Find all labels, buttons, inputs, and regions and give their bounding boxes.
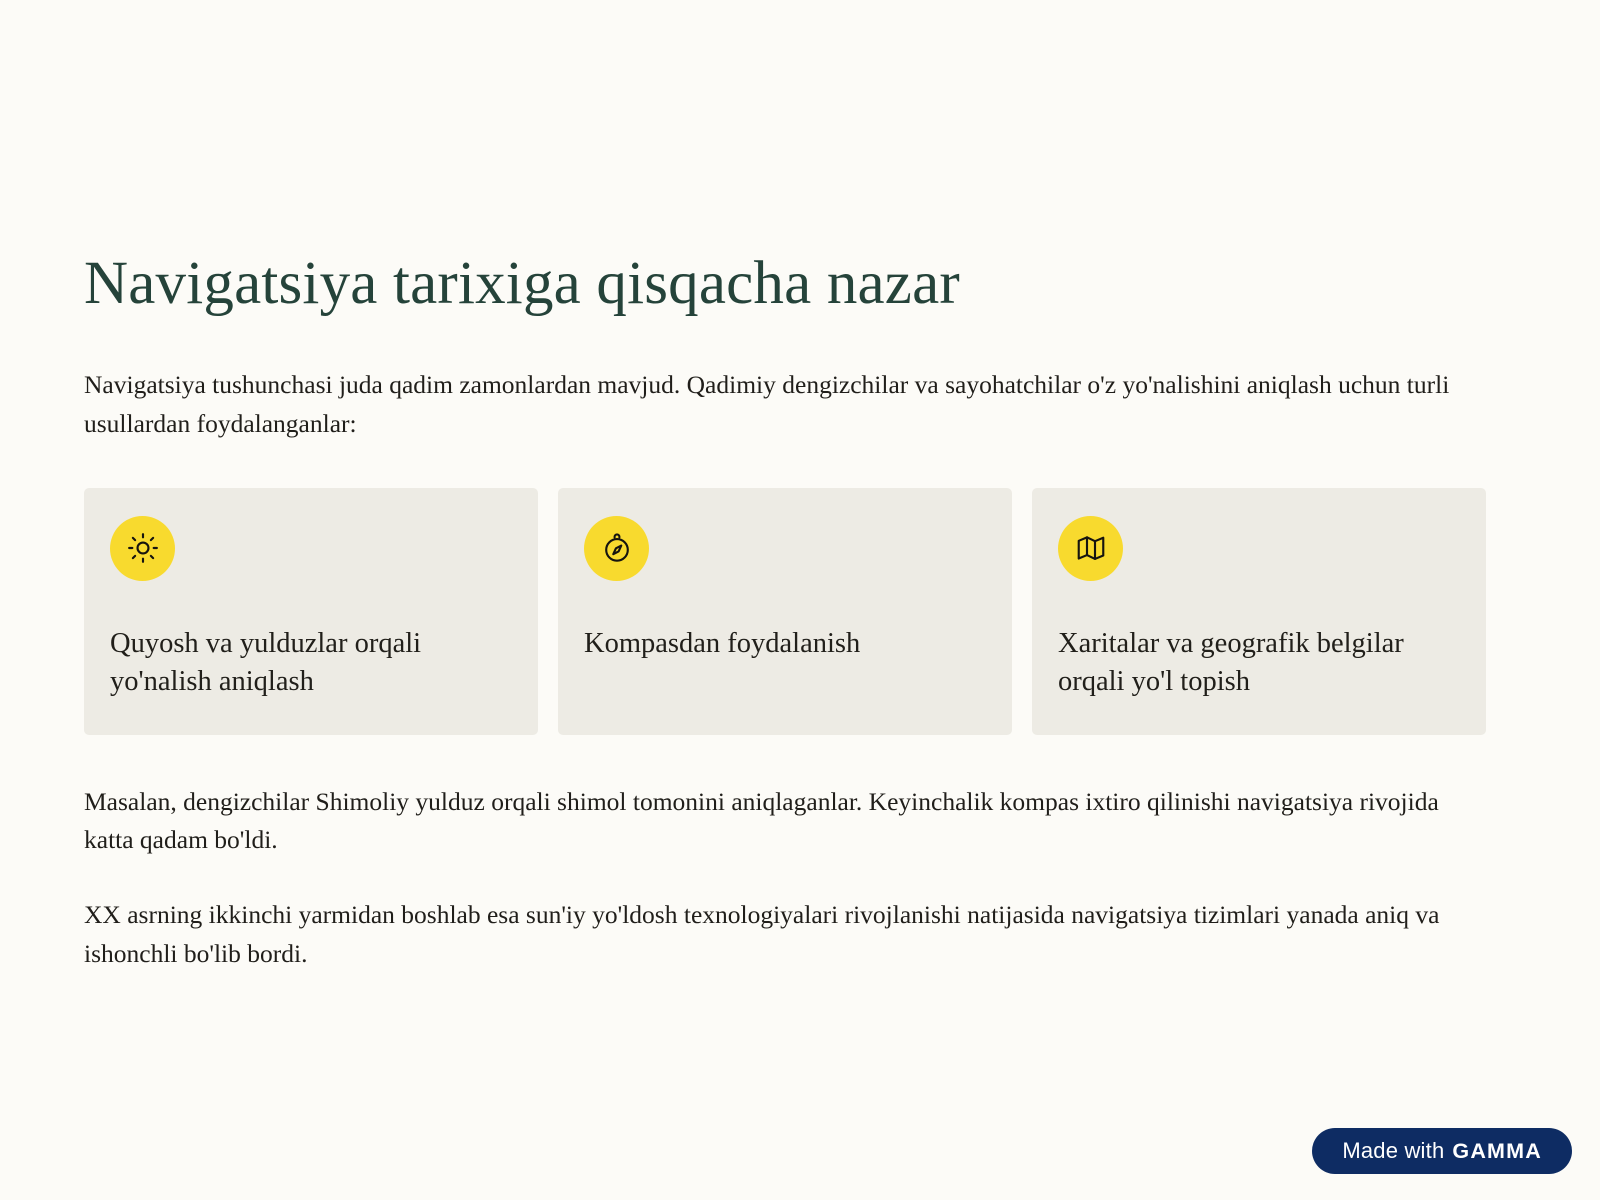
sun-icon	[127, 532, 159, 564]
slide-canvas: Navigatsiya tarixiga qisqacha nazar Navi…	[0, 0, 1600, 1200]
sun-icon-badge	[110, 516, 175, 581]
page-title: Navigatsiya tarixiga qisqacha nazar	[84, 250, 1486, 318]
feature-card-list: Quyosh va yulduzlar orqali yo'nalish ani…	[84, 488, 1486, 735]
made-with-label: Made with	[1342, 1138, 1444, 1164]
compass-icon-badge	[584, 516, 649, 581]
feature-card-title: Kompasdan foydalanish	[584, 625, 986, 663]
feature-card-title: Xaritalar va geografik belgilar orqali y…	[1058, 625, 1460, 701]
slide-content: Navigatsiya tarixiga qisqacha nazar Navi…	[84, 250, 1486, 974]
feature-card-map[interactable]: Xaritalar va geografik belgilar orqali y…	[1032, 488, 1486, 735]
compass-icon	[601, 532, 633, 564]
feature-card-title: Quyosh va yulduzlar orqali yo'nalish ani…	[110, 625, 512, 701]
made-with-gamma-badge[interactable]: Made with GAMMA	[1312, 1128, 1572, 1174]
body-paragraph-2: XX asrning ikkinchi yarmidan boshlab esa…	[84, 896, 1462, 974]
feature-card-sun[interactable]: Quyosh va yulduzlar orqali yo'nalish ani…	[84, 488, 538, 735]
map-icon-badge	[1058, 516, 1123, 581]
gamma-brand-label: GAMMA	[1452, 1139, 1542, 1164]
intro-paragraph: Navigatsiya tushunchasi juda qadim zamon…	[84, 366, 1462, 444]
map-icon	[1075, 532, 1107, 564]
body-paragraph-1: Masalan, dengizchilar Shimoliy yulduz or…	[84, 783, 1462, 861]
feature-card-compass[interactable]: Kompasdan foydalanish	[558, 488, 1012, 735]
